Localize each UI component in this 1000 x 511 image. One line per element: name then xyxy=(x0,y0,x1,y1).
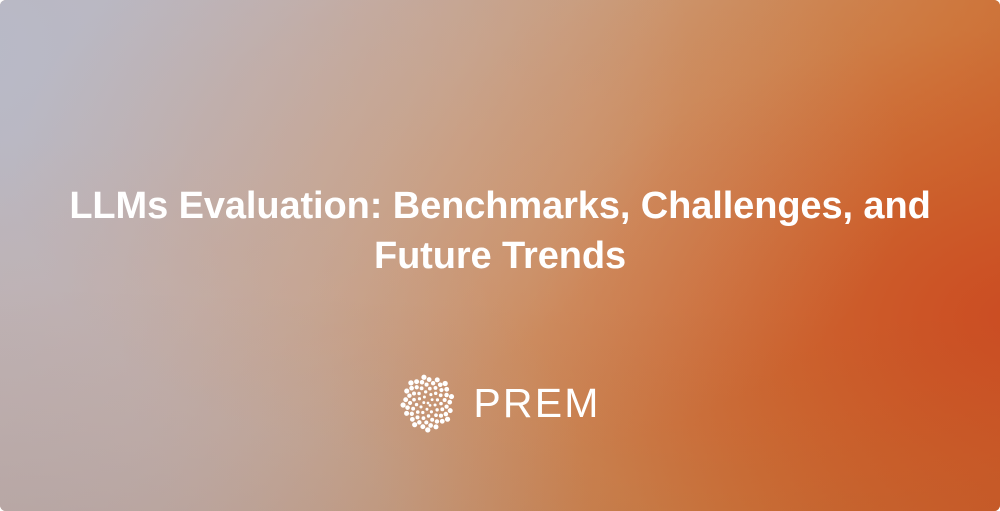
prem-dot-spiral-icon xyxy=(399,372,457,434)
prem-wordmark: PREM xyxy=(473,383,600,424)
article-social-card: LLMs Evaluation: Benchmarks, Challenges,… xyxy=(0,0,1000,511)
card-content: LLMs Evaluation: Benchmarks, Challenges,… xyxy=(0,0,1000,511)
brand-lockup: PREM xyxy=(0,372,1000,434)
card-title: LLMs Evaluation: Benchmarks, Challenges,… xyxy=(0,181,1000,281)
